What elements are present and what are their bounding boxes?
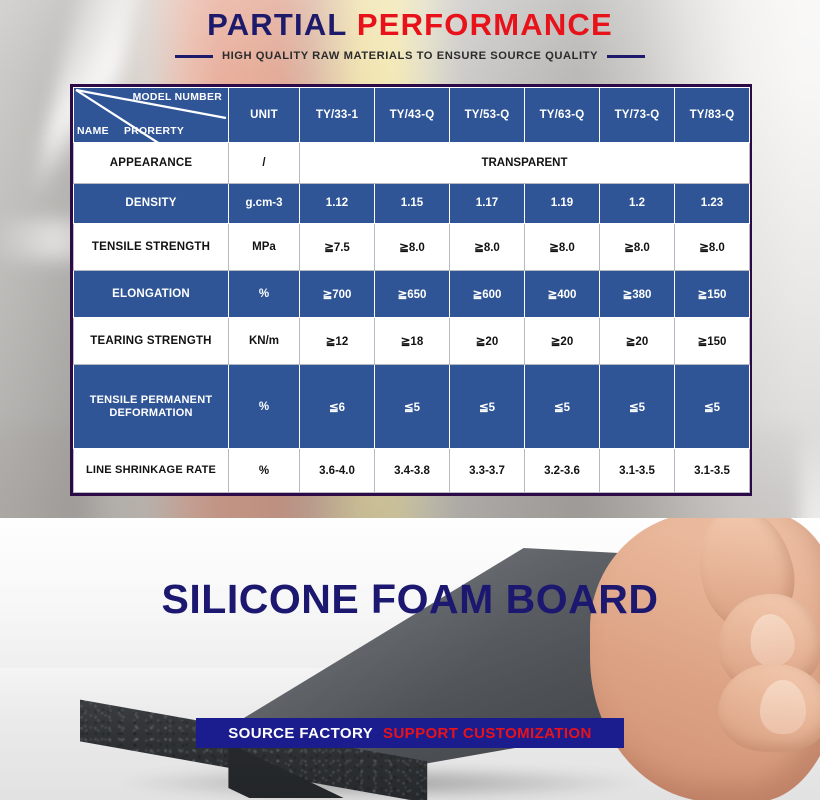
table-row: TEARING STRENGTH KN/m ≧12 ≧18 ≧20 ≧20 ≧2…: [74, 318, 750, 365]
row-unit-appearance: /: [229, 143, 300, 184]
cell-density-ty53-q: 1.17: [450, 183, 525, 224]
cell-tearing-ty83-q: ≧150: [675, 318, 750, 365]
subtitle-row: HIGH QUALITY RAW MATERIALS TO ENSURE SOU…: [0, 50, 820, 62]
table-row: ELONGATION % ≧700 ≧650 ≧600 ≧400 ≧380 ≧1…: [74, 271, 750, 318]
table-row: TENSILE STRENGTH MPa ≧7.5 ≧8.0 ≧8.0 ≧8.0…: [74, 224, 750, 271]
row-unit-line-shrinkage-rate: %: [229, 449, 300, 493]
corner-label-model-number: MODEL NUMBER: [133, 92, 222, 103]
cell-tpd-ty63-q: ≦5: [525, 364, 600, 448]
row-label-tensile-permanent-deformation: TENSILE PERMANENT DEFORMATION: [74, 364, 229, 448]
cell-elongation-ty53-q: ≧600: [450, 271, 525, 318]
row-unit-density: g.cm-3: [229, 183, 300, 224]
cell-elongation-ty43-q: ≧650: [375, 271, 450, 318]
table-row: TENSILE PERMANENT DEFORMATION % ≦6 ≦5 ≦5…: [74, 364, 750, 448]
page-title-part2: PERFORMANCE: [357, 7, 613, 42]
row-value-appearance-merged: TRANSPARENT: [300, 143, 750, 184]
bottom-section: [0, 518, 820, 800]
row-unit-tensile-permanent-deformation: %: [229, 364, 300, 448]
page-title-part1: PARTIAL: [207, 7, 347, 42]
spec-table: MODEL NUMBER PRORERTY NAME UNIT TY/33-1 …: [73, 87, 750, 493]
cell-tensile-ty43-q: ≧8.0: [375, 224, 450, 271]
cell-tensile-ty63-q: ≧8.0: [525, 224, 600, 271]
cell-tensile-ty53-q: ≧8.0: [450, 224, 525, 271]
cell-tensile-ty83-q: ≧8.0: [675, 224, 750, 271]
cell-lsr-ty53-q: 3.3-3.7: [450, 449, 525, 493]
banner-support-customization: SUPPORT CUSTOMIZATION: [383, 725, 592, 742]
cell-density-ty83-q: 1.23: [675, 183, 750, 224]
hand-photo: [590, 518, 820, 800]
row-unit-elongation: %: [229, 271, 300, 318]
column-header-ty83-q: TY/83-Q: [675, 88, 750, 143]
row-label-tearing-strength: TEARING STRENGTH: [74, 318, 229, 365]
row-label-tensile-strength: TENSILE STRENGTH: [74, 224, 229, 271]
column-header-ty63-q: TY/63-Q: [525, 88, 600, 143]
corner-label-prorerty: PRORERTY: [124, 126, 184, 137]
cell-elongation-ty33-1: ≧700: [300, 271, 375, 318]
cell-elongation-ty63-q: ≧400: [525, 271, 600, 318]
table-header-row: MODEL NUMBER PRORERTY NAME UNIT TY/33-1 …: [74, 88, 750, 143]
row-label-appearance: APPEARANCE: [74, 143, 229, 184]
cell-tpd-ty73-q: ≦5: [600, 364, 675, 448]
cell-lsr-ty63-q: 3.2-3.6: [525, 449, 600, 493]
cell-tearing-ty43-q: ≧18: [375, 318, 450, 365]
row-label-line-shrinkage-rate: LINE SHRINKAGE RATE: [74, 449, 229, 493]
row-label-density: DENSITY: [74, 183, 229, 224]
cell-tpd-ty33-1: ≦6: [300, 364, 375, 448]
corner-label-name: NAME: [77, 126, 109, 137]
cell-tpd-ty43-q: ≦5: [375, 364, 450, 448]
cell-tearing-ty33-1: ≧12: [300, 318, 375, 365]
column-header-unit: UNIT: [229, 88, 300, 143]
banner-source-factory: SOURCE FACTORY: [228, 725, 373, 742]
cell-tearing-ty63-q: ≧20: [525, 318, 600, 365]
column-header-ty53-q: TY/53-Q: [450, 88, 525, 143]
cell-tpd-ty83-q: ≦5: [675, 364, 750, 448]
cell-density-ty33-1: 1.12: [300, 183, 375, 224]
column-header-ty33-1: TY/33-1: [300, 88, 375, 143]
cell-tensile-ty33-1: ≧7.5: [300, 224, 375, 271]
page-subtitle: HIGH QUALITY RAW MATERIALS TO ENSURE SOU…: [222, 50, 598, 62]
promo-banner: SOURCE FACTORY SUPPORT CUSTOMIZATION: [196, 718, 624, 748]
cell-lsr-ty43-q: 3.4-3.8: [375, 449, 450, 493]
row-label-elongation: ELONGATION: [74, 271, 229, 318]
top-section: PARTIAL PERFORMANCE HIGH QUALITY RAW MAT…: [0, 0, 820, 518]
rule-right-icon: [607, 55, 645, 58]
table-row: DENSITY g.cm-3 1.12 1.15 1.17 1.19 1.2 1…: [74, 183, 750, 224]
rule-left-icon: [175, 55, 213, 58]
product-title: SILICONE FOAM BOARD: [0, 576, 820, 623]
cell-lsr-ty33-1: 3.6-4.0: [300, 449, 375, 493]
cell-tearing-ty53-q: ≧20: [450, 318, 525, 365]
row-unit-tearing-strength: KN/m: [229, 318, 300, 365]
cell-tensile-ty73-q: ≧8.0: [600, 224, 675, 271]
cell-elongation-ty83-q: ≧150: [675, 271, 750, 318]
spec-table-container: MODEL NUMBER PRORERTY NAME UNIT TY/33-1 …: [70, 84, 752, 496]
cell-density-ty73-q: 1.2: [600, 183, 675, 224]
row-unit-tensile-strength: MPa: [229, 224, 300, 271]
corner-header-cell: MODEL NUMBER PRORERTY NAME: [74, 88, 229, 143]
product-banner-page: PARTIAL PERFORMANCE HIGH QUALITY RAW MAT…: [0, 0, 820, 800]
header-block: PARTIAL PERFORMANCE HIGH QUALITY RAW MAT…: [0, 8, 820, 62]
cell-density-ty43-q: 1.15: [375, 183, 450, 224]
page-title: PARTIAL PERFORMANCE: [0, 8, 820, 42]
cell-lsr-ty83-q: 3.1-3.5: [675, 449, 750, 493]
cell-density-ty63-q: 1.19: [525, 183, 600, 224]
cell-tearing-ty73-q: ≧20: [600, 318, 675, 365]
cell-tpd-ty53-q: ≦5: [450, 364, 525, 448]
cell-elongation-ty73-q: ≧380: [600, 271, 675, 318]
column-header-ty43-q: TY/43-Q: [375, 88, 450, 143]
table-row: LINE SHRINKAGE RATE % 3.6-4.0 3.4-3.8 3.…: [74, 449, 750, 493]
cell-lsr-ty73-q: 3.1-3.5: [600, 449, 675, 493]
column-header-ty73-q: TY/73-Q: [600, 88, 675, 143]
table-row: APPEARANCE / TRANSPARENT: [74, 143, 750, 184]
